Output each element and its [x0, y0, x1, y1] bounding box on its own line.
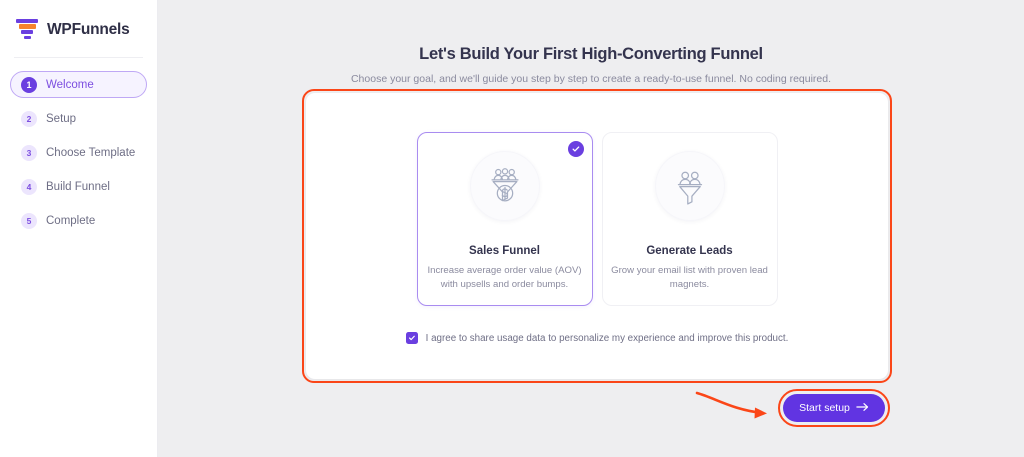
people-funnel-icon [655, 151, 725, 221]
page-title: Let's Build Your First High-Converting F… [158, 0, 1024, 64]
sidebar: WPFunnels 1 Welcome 2 Setup 3 Choose Tem… [0, 0, 158, 457]
goal-selection-panel: Sales Funnel Increase average order valu… [306, 93, 888, 379]
sidebar-item-welcome[interactable]: 1 Welcome [10, 71, 147, 98]
step-number-badge: 4 [21, 179, 37, 195]
sidebar-item-label: Choose Template [46, 147, 135, 159]
start-setup-label: Start setup [799, 402, 850, 414]
brand[interactable]: WPFunnels [0, 0, 157, 46]
goal-card-list: Sales Funnel Increase average order valu… [306, 93, 888, 306]
goal-card-title: Sales Funnel [469, 245, 540, 257]
sidebar-item-label: Setup [46, 113, 76, 125]
sidebar-item-complete[interactable]: 5 Complete [10, 207, 147, 234]
consent-row: I agree to share usage data to personali… [306, 332, 888, 344]
goal-card-generate-leads[interactable]: Generate Leads Grow your email list with… [602, 132, 778, 306]
sidebar-item-setup[interactable]: 2 Setup [10, 105, 147, 132]
sidebar-item-choose-template[interactable]: 3 Choose Template [10, 139, 147, 166]
goal-card-title: Generate Leads [646, 245, 732, 257]
step-nav: 1 Welcome 2 Setup 3 Choose Template 4 Bu… [0, 58, 157, 241]
step-number-badge: 3 [21, 145, 37, 161]
people-funnel-dollar-icon [470, 151, 540, 221]
app-root: WPFunnels 1 Welcome 2 Setup 3 Choose Tem… [0, 0, 1024, 457]
goal-card-sales-funnel[interactable]: Sales Funnel Increase average order valu… [417, 132, 593, 306]
check-circle-icon [568, 141, 584, 157]
sidebar-item-label: Welcome [46, 79, 94, 91]
annotation-arrow [693, 388, 785, 424]
start-setup-button[interactable]: Start setup [783, 394, 885, 422]
step-number-badge: 2 [21, 111, 37, 127]
step-number-badge: 1 [21, 77, 37, 93]
step-number-badge: 5 [21, 213, 37, 229]
brand-name: WPFunnels [47, 21, 130, 39]
consent-label[interactable]: I agree to share usage data to personali… [426, 333, 789, 344]
arrow-right-icon [856, 402, 869, 415]
funnel-logo-icon [15, 17, 39, 43]
goal-card-description: Increase average order value (AOV) with … [425, 264, 585, 292]
main-content: Let's Build Your First High-Converting F… [158, 0, 1024, 457]
checkbox-checked-icon[interactable] [406, 332, 418, 344]
sidebar-item-label: Complete [46, 215, 95, 227]
goal-card-description: Grow your email list with proven lead ma… [610, 264, 770, 292]
sidebar-item-build-funnel[interactable]: 4 Build Funnel [10, 173, 147, 200]
page-subtitle: Choose your goal, and we'll guide you st… [158, 64, 1024, 85]
sidebar-item-label: Build Funnel [46, 181, 110, 193]
